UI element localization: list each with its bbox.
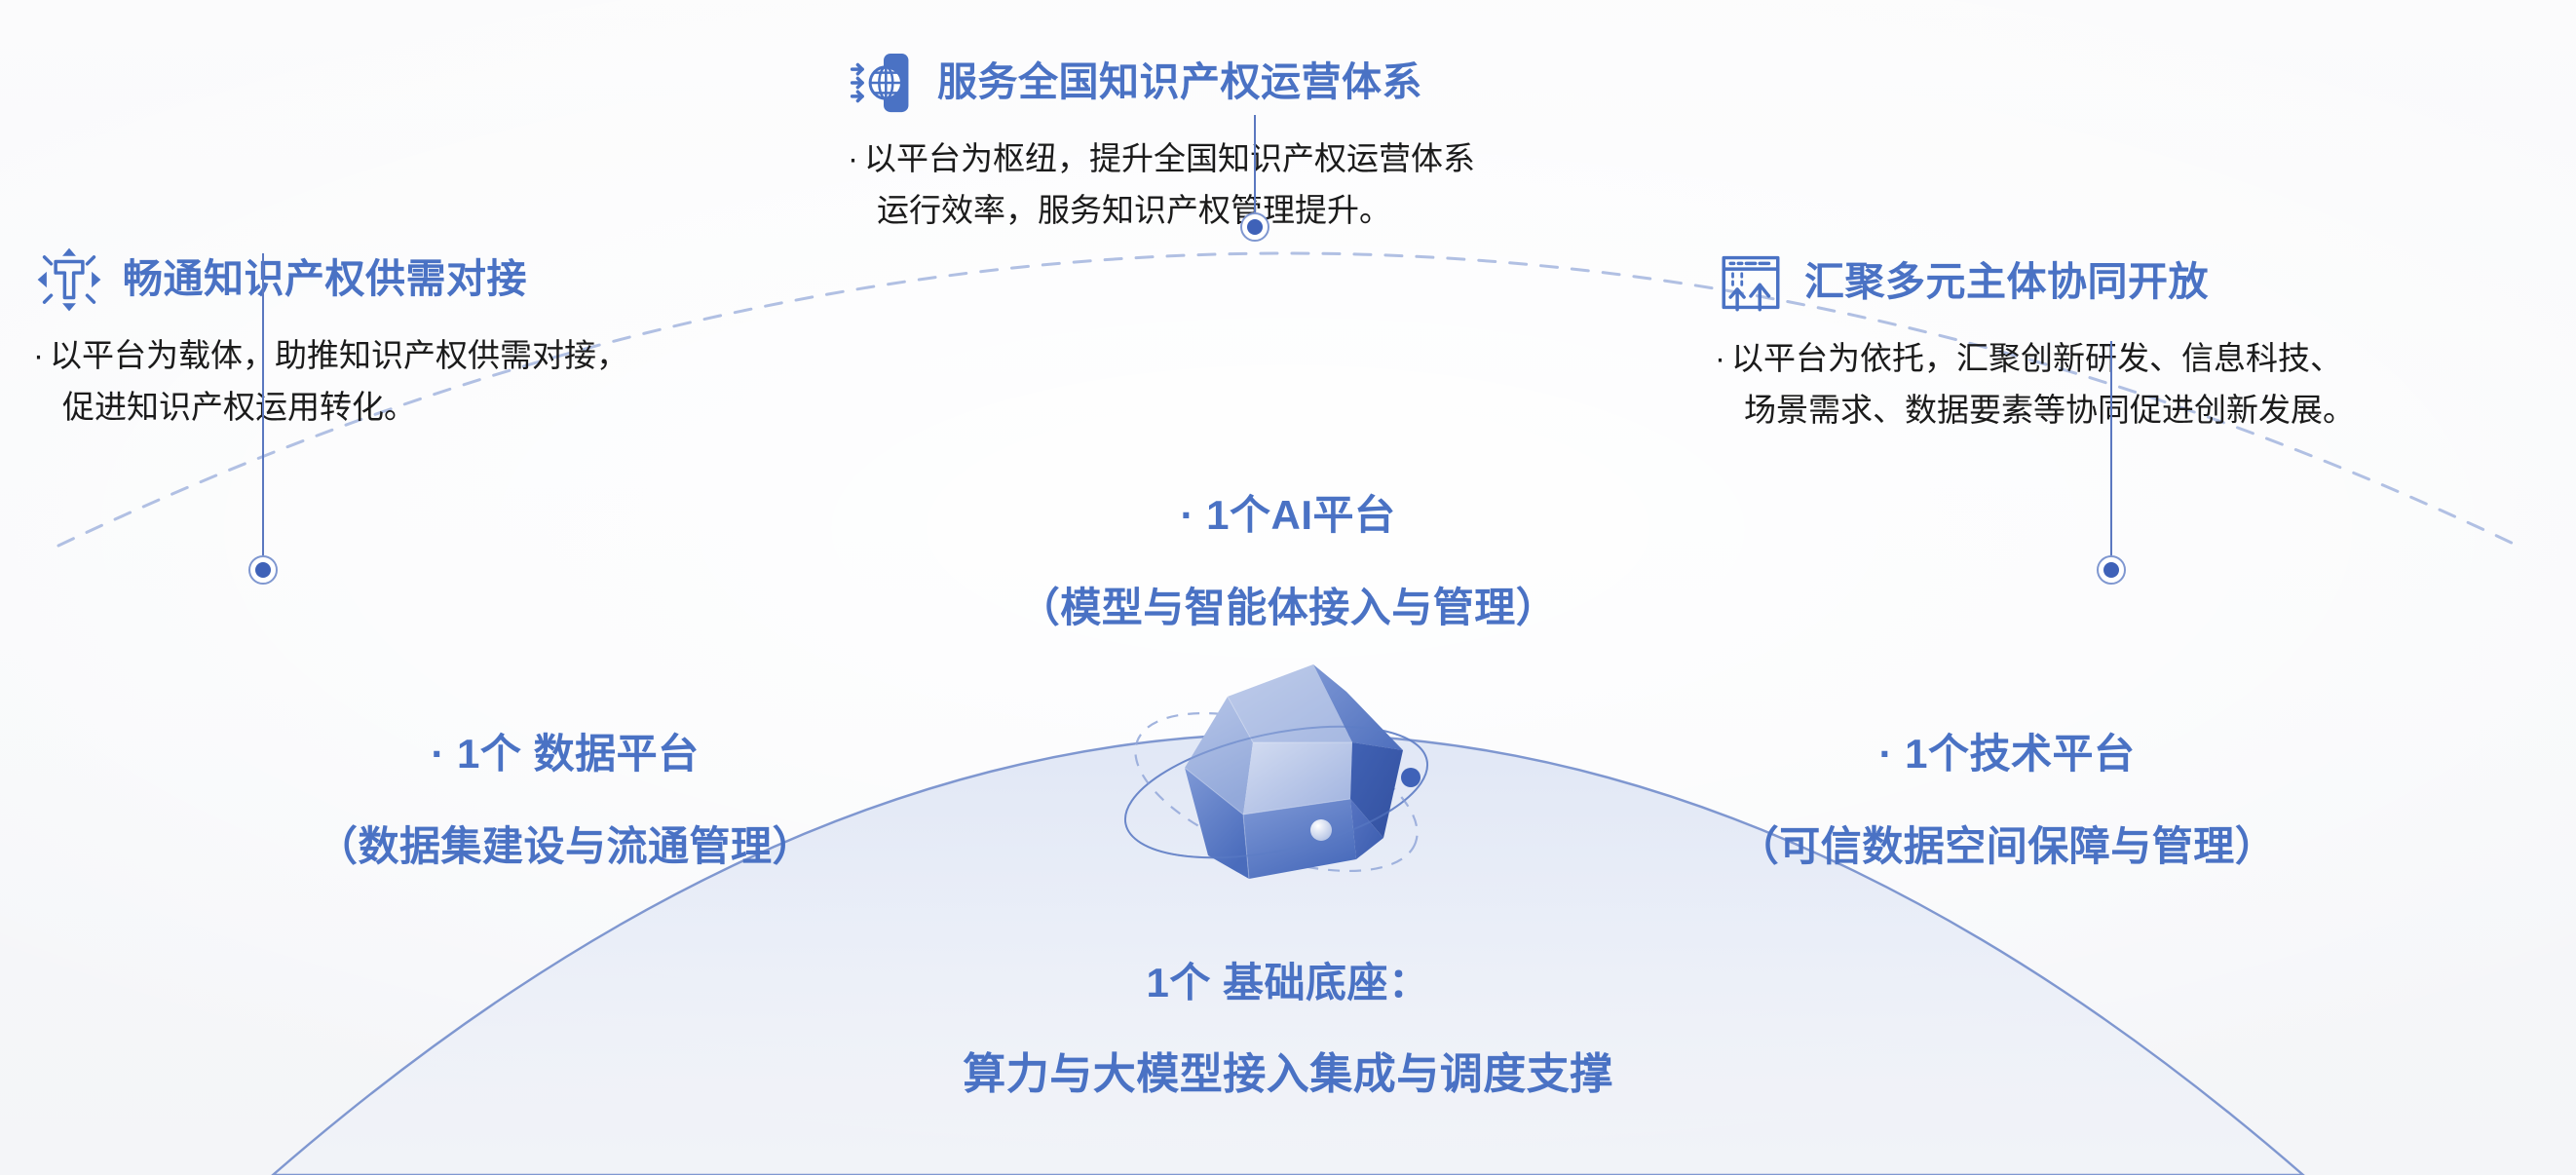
- expand-arrows-icon: [33, 244, 105, 316]
- dome-label-ai-platform: · 1个AI平台 （模型与智能体接入与管理）: [898, 482, 1678, 634]
- callout-body-line2: 促进知识产权运用转化。: [33, 381, 842, 433]
- data-platform-line2: （数据集建设与流通管理）: [205, 814, 926, 873]
- connector-line: [2110, 341, 2112, 557]
- bullet-marker: ·: [1715, 340, 1725, 376]
- ai-platform-line1: · 1个AI平台: [898, 482, 1678, 542]
- dashboard-growth-icon: [1715, 246, 1787, 319]
- connector-line: [262, 253, 264, 557]
- data-platform-line1: · 1个 数据平台: [205, 721, 926, 780]
- connector-multi-entity-collaboration: [2097, 341, 2126, 585]
- infographic-canvas: 畅通知识产权供需对接 ·以平台为载体，助推知识产权供需对接， 促进知识产权运用转…: [0, 0, 2576, 1175]
- connector-national-ip-operation: [1240, 115, 1269, 242]
- callout-title: 服务全国知识产权运营体系: [937, 60, 1422, 104]
- callout-header: 服务全国知识产权运营体系: [848, 47, 1724, 119]
- callout-body: ·以平台为依托，汇聚创新研发、信息科技、 场景需求、数据要素等协同促进创新发展。: [1715, 332, 2572, 436]
- callout-body-line2: 场景需求、数据要素等协同促进创新发展。: [1715, 384, 2572, 436]
- connector-supply-demand: [248, 253, 278, 585]
- connector-dot: [2097, 555, 2126, 585]
- bullet-marker: ·: [33, 337, 44, 373]
- ai-platform-line2: （模型与智能体接入与管理）: [898, 575, 1678, 634]
- callout-body-line1: 以平台为依托，汇聚创新研发、信息科技、: [1731, 340, 2342, 376]
- base-line1: 1个 基础底座：: [0, 950, 2576, 1009]
- connector-dot: [1240, 212, 1269, 242]
- connector-line: [1254, 115, 1256, 214]
- callout-title: 汇聚多元主体协同开放: [1804, 260, 2209, 304]
- dome-label-tech-platform: · 1个技术平台 （可信数据空间保障与管理）: [1647, 721, 2368, 873]
- dome-label-data-platform: · 1个 数据平台 （数据集建设与流通管理）: [205, 721, 926, 873]
- tech-platform-line1: · 1个技术平台: [1647, 721, 2368, 780]
- callout-title: 畅通知识产权供需对接: [123, 257, 527, 301]
- callout-body-line1: 以平台为载体，助推知识产权供需对接，: [50, 337, 628, 373]
- callout-body: ·以平台为载体，助推知识产权供需对接， 促进知识产权运用转化。: [33, 329, 842, 434]
- callout-national-ip-operation: 服务全国知识产权运营体系 ·以平台为枢纽，提升全国知识产权运营体系 运行效率，服…: [848, 47, 1724, 237]
- connector-dot: [248, 555, 278, 585]
- bullet-marker: ·: [848, 140, 858, 176]
- polyhedron-orbit-icon: [1091, 653, 1461, 926]
- callout-body-line2: 运行效率，服务知识产权管理提升。: [848, 184, 1724, 236]
- base-label: 1个 基础底座： 算力与大模型接入集成与调度支撑: [0, 950, 2576, 1101]
- callout-multi-entity-collaboration: 汇聚多元主体协同开放 ·以平台为依托，汇聚创新研发、信息科技、 场景需求、数据要…: [1715, 246, 2572, 436]
- tech-platform-line2: （可信数据空间保障与管理）: [1647, 814, 2368, 873]
- globe-transfer-icon: [848, 47, 920, 119]
- base-line2: 算力与大模型接入集成与调度支撑: [0, 1039, 2576, 1101]
- callout-supply-demand: 畅通知识产权供需对接 ·以平台为载体，助推知识产权供需对接， 促进知识产权运用转…: [33, 244, 842, 434]
- callout-body-line1: 以平台为枢纽，提升全国知识产权运营体系: [864, 140, 1475, 176]
- callout-body: ·以平台为枢纽，提升全国知识产权运营体系 运行效率，服务知识产权管理提升。: [848, 133, 1724, 237]
- callout-header: 畅通知识产权供需对接: [33, 244, 842, 316]
- callout-header: 汇聚多元主体协同开放: [1715, 246, 2572, 319]
